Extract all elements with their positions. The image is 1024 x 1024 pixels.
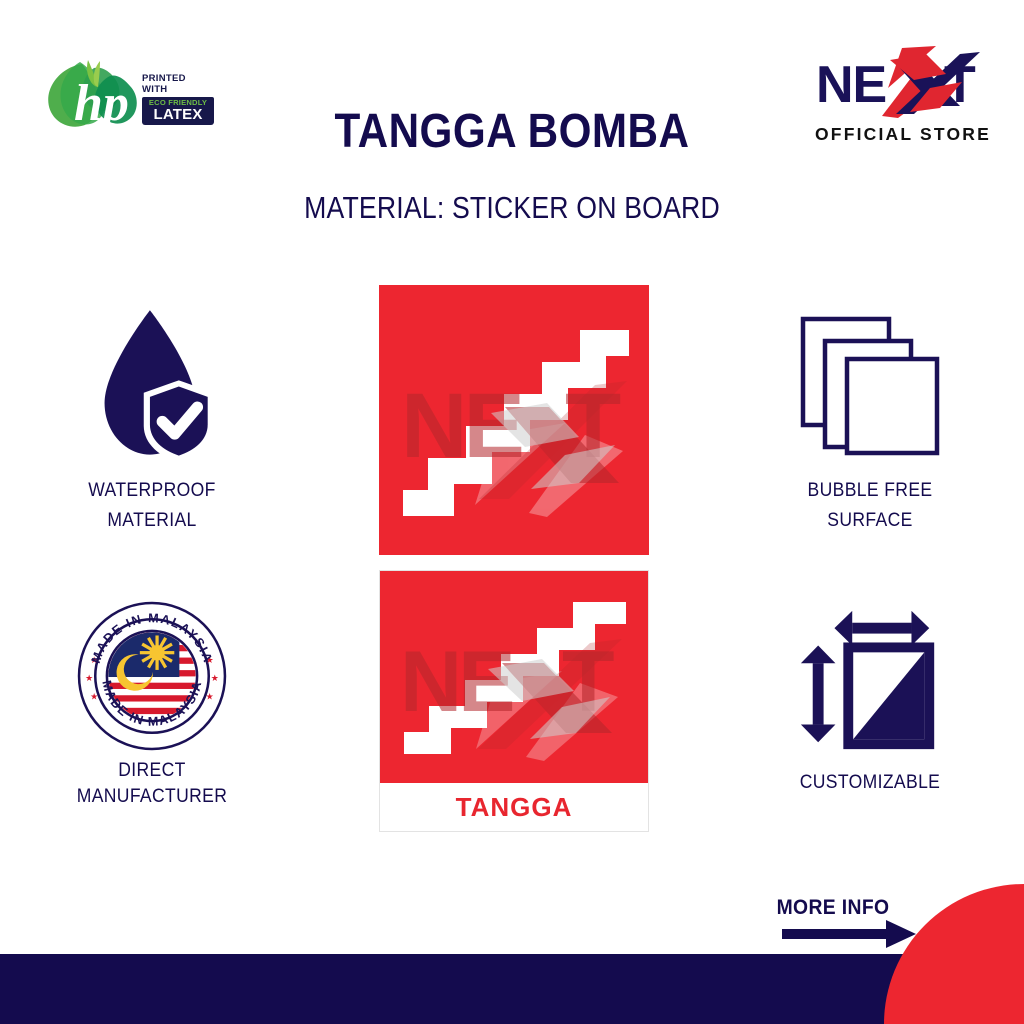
svg-text:NE: NE: [400, 634, 512, 730]
sign-red-panel: NE T: [379, 285, 649, 555]
feature-bubble-free: BUBBLE FREE SURFACE: [745, 300, 995, 532]
water-drop-shield-check-icon: [27, 300, 277, 472]
made-in-malaysia-seal-icon: ★ ★ ★ ★ ★ ★ MADE IN MALAYSIA MADE IN MAL…: [27, 596, 277, 756]
feature-customizable-label: CUSTOMIZABLE: [758, 770, 983, 794]
sign-red-panel: NE T: [380, 571, 648, 783]
feature-waterproof-label-line2: MATERIAL: [40, 508, 265, 532]
feature-customizable: CUSTOMIZABLE: [745, 596, 995, 794]
page-title: TANGGA BOMBA: [61, 104, 962, 159]
svg-text:★: ★: [85, 673, 93, 683]
staircase-pictogram-icon: NE T: [379, 285, 649, 555]
feature-waterproof-label-line1: WATERPROOF: [40, 478, 265, 502]
product-listing-banner: hp PRINTED WITH ECO FRIENDLY LATEX NE T: [0, 0, 1024, 1024]
stacked-sheets-icon: [745, 300, 995, 472]
svg-text:NE: NE: [401, 375, 521, 477]
feature-bubble-free-label-line1: BUBBLE FREE: [758, 478, 983, 502]
product-image-staircase-labelled[interactable]: NE T TANGGA: [379, 570, 649, 832]
feature-waterproof: WATERPROOF MATERIAL: [27, 300, 277, 532]
more-info-label: MORE INFO: [769, 896, 898, 920]
feature-made-in-malaysia-label-line1: DIRECT: [40, 758, 265, 782]
hp-printed-label: PRINTED: [142, 74, 214, 85]
product-image-staircase-plain[interactable]: NE T: [379, 285, 649, 555]
svg-text:★: ★: [206, 691, 214, 701]
feature-made-in-malaysia: ★ ★ ★ ★ ★ ★ MADE IN MALAYSIA MADE IN MAL…: [27, 596, 277, 808]
more-info-callout[interactable]: MORE INFO: [763, 896, 903, 920]
feature-bubble-free-label-line2: SURFACE: [758, 508, 983, 532]
hp-with-label: WITH: [142, 85, 214, 96]
footer-corner-accent: [884, 884, 1024, 1024]
footer-bar: [0, 954, 1024, 1024]
page-subtitle: MATERIAL: STICKER ON BOARD: [72, 190, 953, 226]
staircase-pictogram-icon: NE T: [380, 571, 648, 783]
arrow-right-icon: [782, 918, 922, 952]
sign-caption-text: TANGGA: [380, 783, 648, 831]
resize-arrows-rectangle-icon: [745, 596, 995, 764]
svg-text:★: ★: [90, 691, 98, 701]
feature-made-in-malaysia-label-line2: MANUFACTURER: [40, 784, 265, 808]
svg-text:★: ★: [211, 673, 219, 683]
